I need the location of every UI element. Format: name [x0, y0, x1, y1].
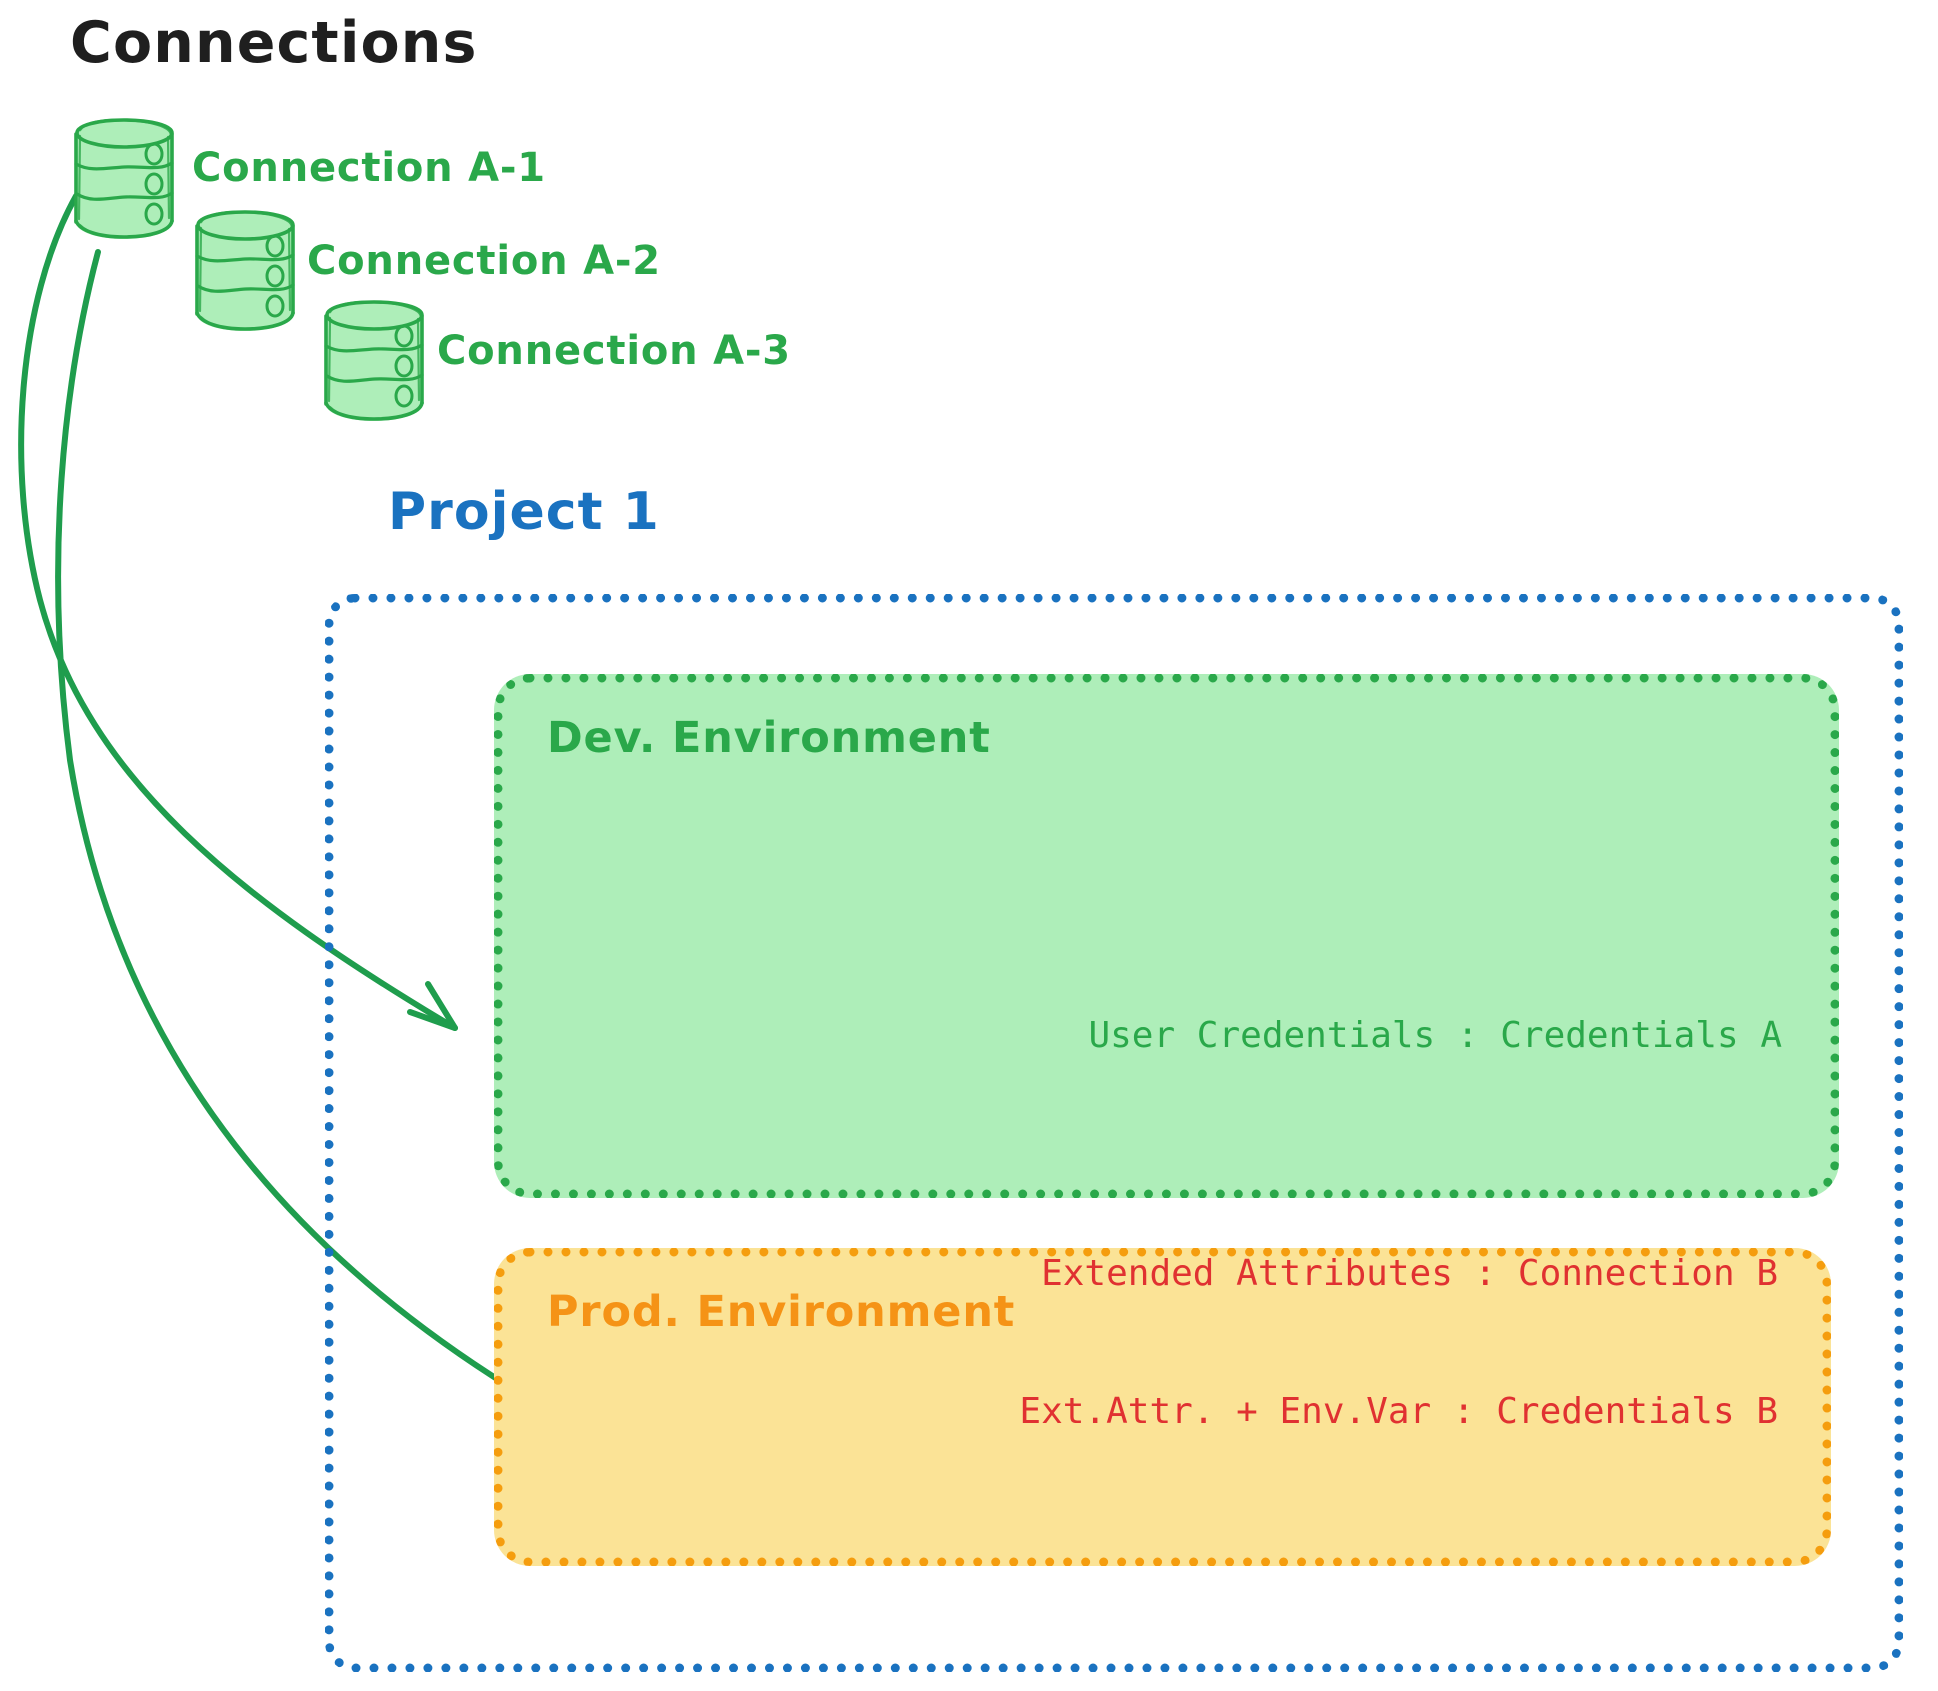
prod-detail-line: Ext.Attr. + Env.Var : Credentials B	[1019, 1389, 1778, 1435]
dev-environment-box: Dev. Environment User Credentials : Cred…	[494, 674, 1839, 1198]
project-heading: Project 1	[388, 482, 660, 542]
connection-label-a2: Connection A-2	[307, 238, 661, 284]
dev-environment-details: User Credentials : Credentials A	[1088, 921, 1782, 1151]
prod-environment-details: Extended Attributes : Connection B Ext.A…	[1019, 1158, 1778, 1527]
prod-environment-title: Prod. Environment	[547, 1287, 1015, 1337]
database-icon	[322, 300, 432, 424]
connections-heading: Connections	[70, 10, 478, 76]
database-icon	[193, 210, 303, 334]
database-icon	[72, 118, 182, 242]
dev-detail-line: User Credentials : Credentials A	[1088, 1013, 1782, 1059]
connection-label-a1: Connection A-1	[192, 145, 546, 191]
prod-environment-box: Prod. Environment Extended Attributes : …	[494, 1248, 1831, 1566]
connection-label-a3: Connection A-3	[437, 328, 791, 374]
prod-detail-line: Extended Attributes : Connection B	[1019, 1251, 1778, 1297]
diagram-canvas: Connections Connection A-1 Connection A-…	[0, 0, 1938, 1691]
dev-environment-title: Dev. Environment	[547, 713, 991, 763]
